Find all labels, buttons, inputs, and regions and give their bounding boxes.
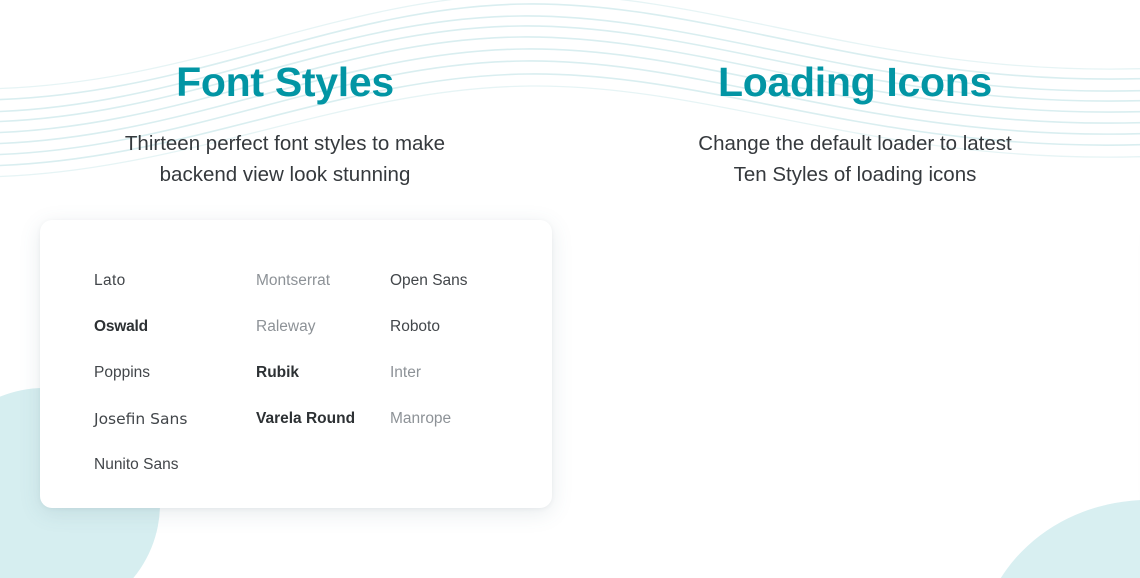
font-item-nunito-sans[interactable]: Nunito Sans [94,456,256,474]
font-item-lato[interactable]: Lato [94,272,256,290]
font-item-roboto[interactable]: Roboto [390,318,514,336]
font-item-oswald[interactable]: Oswald [94,318,256,336]
font-item-inter[interactable]: Inter [390,364,514,382]
page-title-font-styles: Font Styles [0,58,570,106]
font-item-raleway[interactable]: Raleway [256,318,390,336]
font-styles-card: Lato Oswald Poppins Josefin Sans Nunito … [40,220,552,508]
panel-subtitle-font-styles: Thirteen perfect font styles to make bac… [0,128,570,190]
font-list-grid: Lato Oswald Poppins Josefin Sans Nunito … [94,258,514,488]
font-item-josefin-sans[interactable]: Josefin Sans [94,410,256,428]
font-item-manrope[interactable]: Manrope [390,410,514,428]
font-item-varela-round[interactable]: Varela Round [256,410,390,428]
panel-subtitle-loading-icons: Change the default loader to latest Ten … [570,128,1140,190]
panel-font-styles: Font Styles Thirteen perfect font styles… [0,0,570,578]
font-item-montserrat[interactable]: Montserrat [256,272,390,290]
font-item-rubik[interactable]: Rubik [256,364,390,382]
panel-loading-icons: Loading Icons Change the default loader … [570,0,1140,578]
page-title-loading-icons: Loading Icons [570,58,1140,106]
font-item-open-sans[interactable]: Open Sans [390,272,514,290]
font-item-poppins[interactable]: Poppins [94,364,256,382]
page-root: Font Styles Thirteen perfect font styles… [0,0,1140,578]
